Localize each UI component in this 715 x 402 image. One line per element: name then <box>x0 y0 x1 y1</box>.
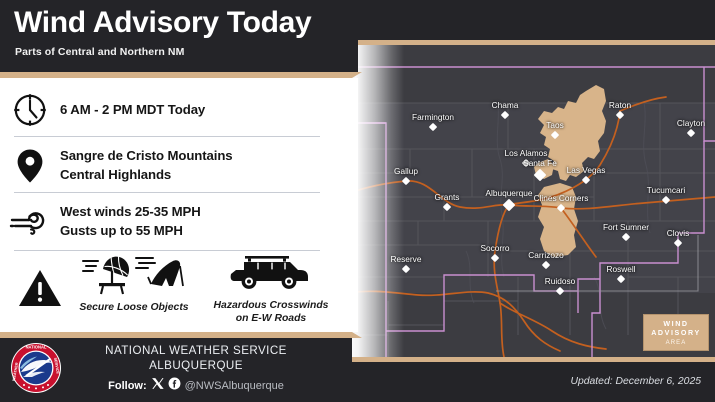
city-label: Santa Fe <box>523 158 557 168</box>
city-label: Las Vegas <box>567 165 606 175</box>
panel-divider-3 <box>14 250 320 251</box>
svg-text:NATIONAL: NATIONAL <box>26 345 47 350</box>
org-line-1: NATIONAL WEATHER SERVICE <box>66 344 326 359</box>
detail-wind-line2: Gusts up to 55 MPH <box>60 222 201 241</box>
detail-text-time: 6 AM - 2 PM MDT Today <box>60 101 205 120</box>
social-handle[interactable]: @NWSAlbuquerque <box>185 380 284 392</box>
suv-icon <box>228 253 314 298</box>
detail-row-location: Sangre de Cristo Mountains Central Highl… <box>0 140 336 192</box>
page-title: Wind Advisory Today <box>14 6 311 40</box>
city-label: Chama <box>492 100 519 110</box>
city-label: Clayton <box>677 118 705 128</box>
impact-label-objects: Secure Loose Objects <box>72 302 196 315</box>
map-pin-icon <box>0 148 60 184</box>
impact-objects-line1: Secure Loose Objects <box>79 302 188 313</box>
header-accent-rule <box>0 72 352 78</box>
facebook-icon[interactable] <box>168 377 181 395</box>
impact-crosswinds: Hazardous Crosswinds on E-W Roads <box>196 254 346 325</box>
footer-banner: NATIONAL SERVICE WEATHER NATIONAL WEATHE… <box>0 338 352 402</box>
panel-divider-1 <box>14 136 320 137</box>
follow-line: Follow: @NWSAlbuquerque <box>66 377 326 395</box>
map-legend: WIND ADVISORY AREA <box>643 314 709 351</box>
header-banner: Wind Advisory Today Parts of Central and… <box>0 0 358 72</box>
clock-icon <box>0 92 60 128</box>
impacts-row: Secure Loose Objects <box>0 254 350 328</box>
detail-text-wind: West winds 25-35 MPH Gusts up to 55 MPH <box>60 203 201 240</box>
impact-roads-line2: on E-W Roads <box>196 313 346 326</box>
city-label: Farmington <box>412 112 454 122</box>
updated-timestamp: Updated: December 6, 2025 <box>570 376 701 387</box>
wind-icon <box>0 207 60 237</box>
patio-umbrella-icon <box>81 253 133 300</box>
legend-line-1: WIND <box>647 320 705 330</box>
detail-row-wind: West winds 25-35 MPH Gusts up to 55 MPH <box>0 196 336 248</box>
page-subtitle: Parts of Central and Northern NM <box>15 46 184 58</box>
city-label: Clovis <box>667 228 690 238</box>
map-viewport: FarmingtonChamaTaosRatonClaytonLos Alamo… <box>348 45 715 357</box>
detail-wind-line1: West winds 25-35 MPH <box>60 203 201 222</box>
detail-location-line1: Sangre de Cristo Mountains <box>60 147 233 166</box>
city-label: Raton <box>609 100 631 110</box>
city-label: Roswell <box>606 264 635 274</box>
city-label: Tucumcari <box>647 185 685 195</box>
details-panel: 6 AM - 2 PM MDT Today Sangre de Cristo M… <box>0 78 358 332</box>
org-line-2: ALBUQUERQUE <box>66 359 326 374</box>
impact-secure-objects: Secure Loose Objects <box>72 256 196 315</box>
city-label: Fort Sumner <box>603 222 649 232</box>
city-label: Clines Corners <box>534 193 589 203</box>
legend-line-3: AREA <box>647 340 705 346</box>
nws-seal-logo: NATIONAL SERVICE WEATHER <box>10 342 62 399</box>
tent-icon <box>135 253 187 300</box>
detail-row-time: 6 AM - 2 PM MDT Today <box>0 84 336 136</box>
city-label: Grants <box>435 192 460 202</box>
follow-label: Follow: <box>108 380 147 392</box>
detail-time-line1: 6 AM - 2 PM MDT Today <box>60 101 205 120</box>
city-label: Los Alamos <box>505 148 548 158</box>
detail-location-line2: Central Highlands <box>60 166 233 185</box>
advisory-map: FarmingtonChamaTaosRatonClaytonLos Alamo… <box>348 40 715 362</box>
city-label: Carrizozo <box>528 250 564 260</box>
warning-triangle-icon <box>18 268 62 313</box>
footer-text-block: NATIONAL WEATHER SERVICE ALBUQUERQUE Fol… <box>66 344 326 395</box>
city-label: Albuquerque <box>485 188 532 198</box>
wind-advisory-graphic: FarmingtonChamaTaosRatonClaytonLos Alamo… <box>0 0 715 402</box>
legend-line-2: ADVISORY <box>647 329 705 339</box>
city-label: Ruidoso <box>545 276 575 286</box>
impact-roads-line1: Hazardous Crosswinds <box>196 300 346 313</box>
impact-label-roads: Hazardous Crosswinds on E-W Roads <box>196 300 346 325</box>
detail-text-location: Sangre de Cristo Mountains Central Highl… <box>60 147 233 184</box>
x-twitter-icon[interactable] <box>151 377 164 395</box>
city-label: Taos <box>546 120 564 130</box>
panel-divider-2 <box>14 192 320 193</box>
city-label: Socorro <box>480 243 509 253</box>
